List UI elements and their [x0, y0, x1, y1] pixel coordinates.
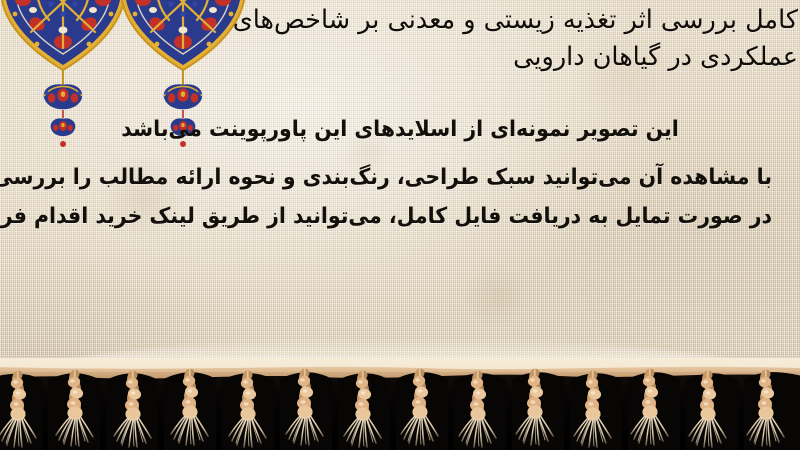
- carpet-fringe: [0, 358, 800, 450]
- body-line-1: این تصویر نمونه‌ای از اسلایدهای این پاور…: [28, 110, 772, 149]
- slide-title-line-2: عملکردی در گیاهان دارویی: [98, 39, 798, 76]
- slide-body-text: این تصویر نمونه‌ای از اسلایدهای این پاور…: [0, 110, 800, 236]
- body-line-2: با مشاهده آن می‌توانید سبک طراحی، رنگ‌بن…: [28, 158, 772, 197]
- slide-title: کامل بررسی اثر تغذیه زیستی و معدنی بر شا…: [98, 2, 798, 76]
- presentation-slide: کامل بررسی اثر تغذیه زیستی و معدنی بر شا…: [0, 0, 800, 450]
- fringe-scallops: [0, 372, 800, 450]
- slide-title-line-1: کامل بررسی اثر تغذیه زیستی و معدنی بر شا…: [98, 2, 798, 39]
- body-line-3: در صورت تمایل به دریافت فایل کامل، می‌تو…: [28, 197, 772, 236]
- body-spacer: [0, 149, 800, 158]
